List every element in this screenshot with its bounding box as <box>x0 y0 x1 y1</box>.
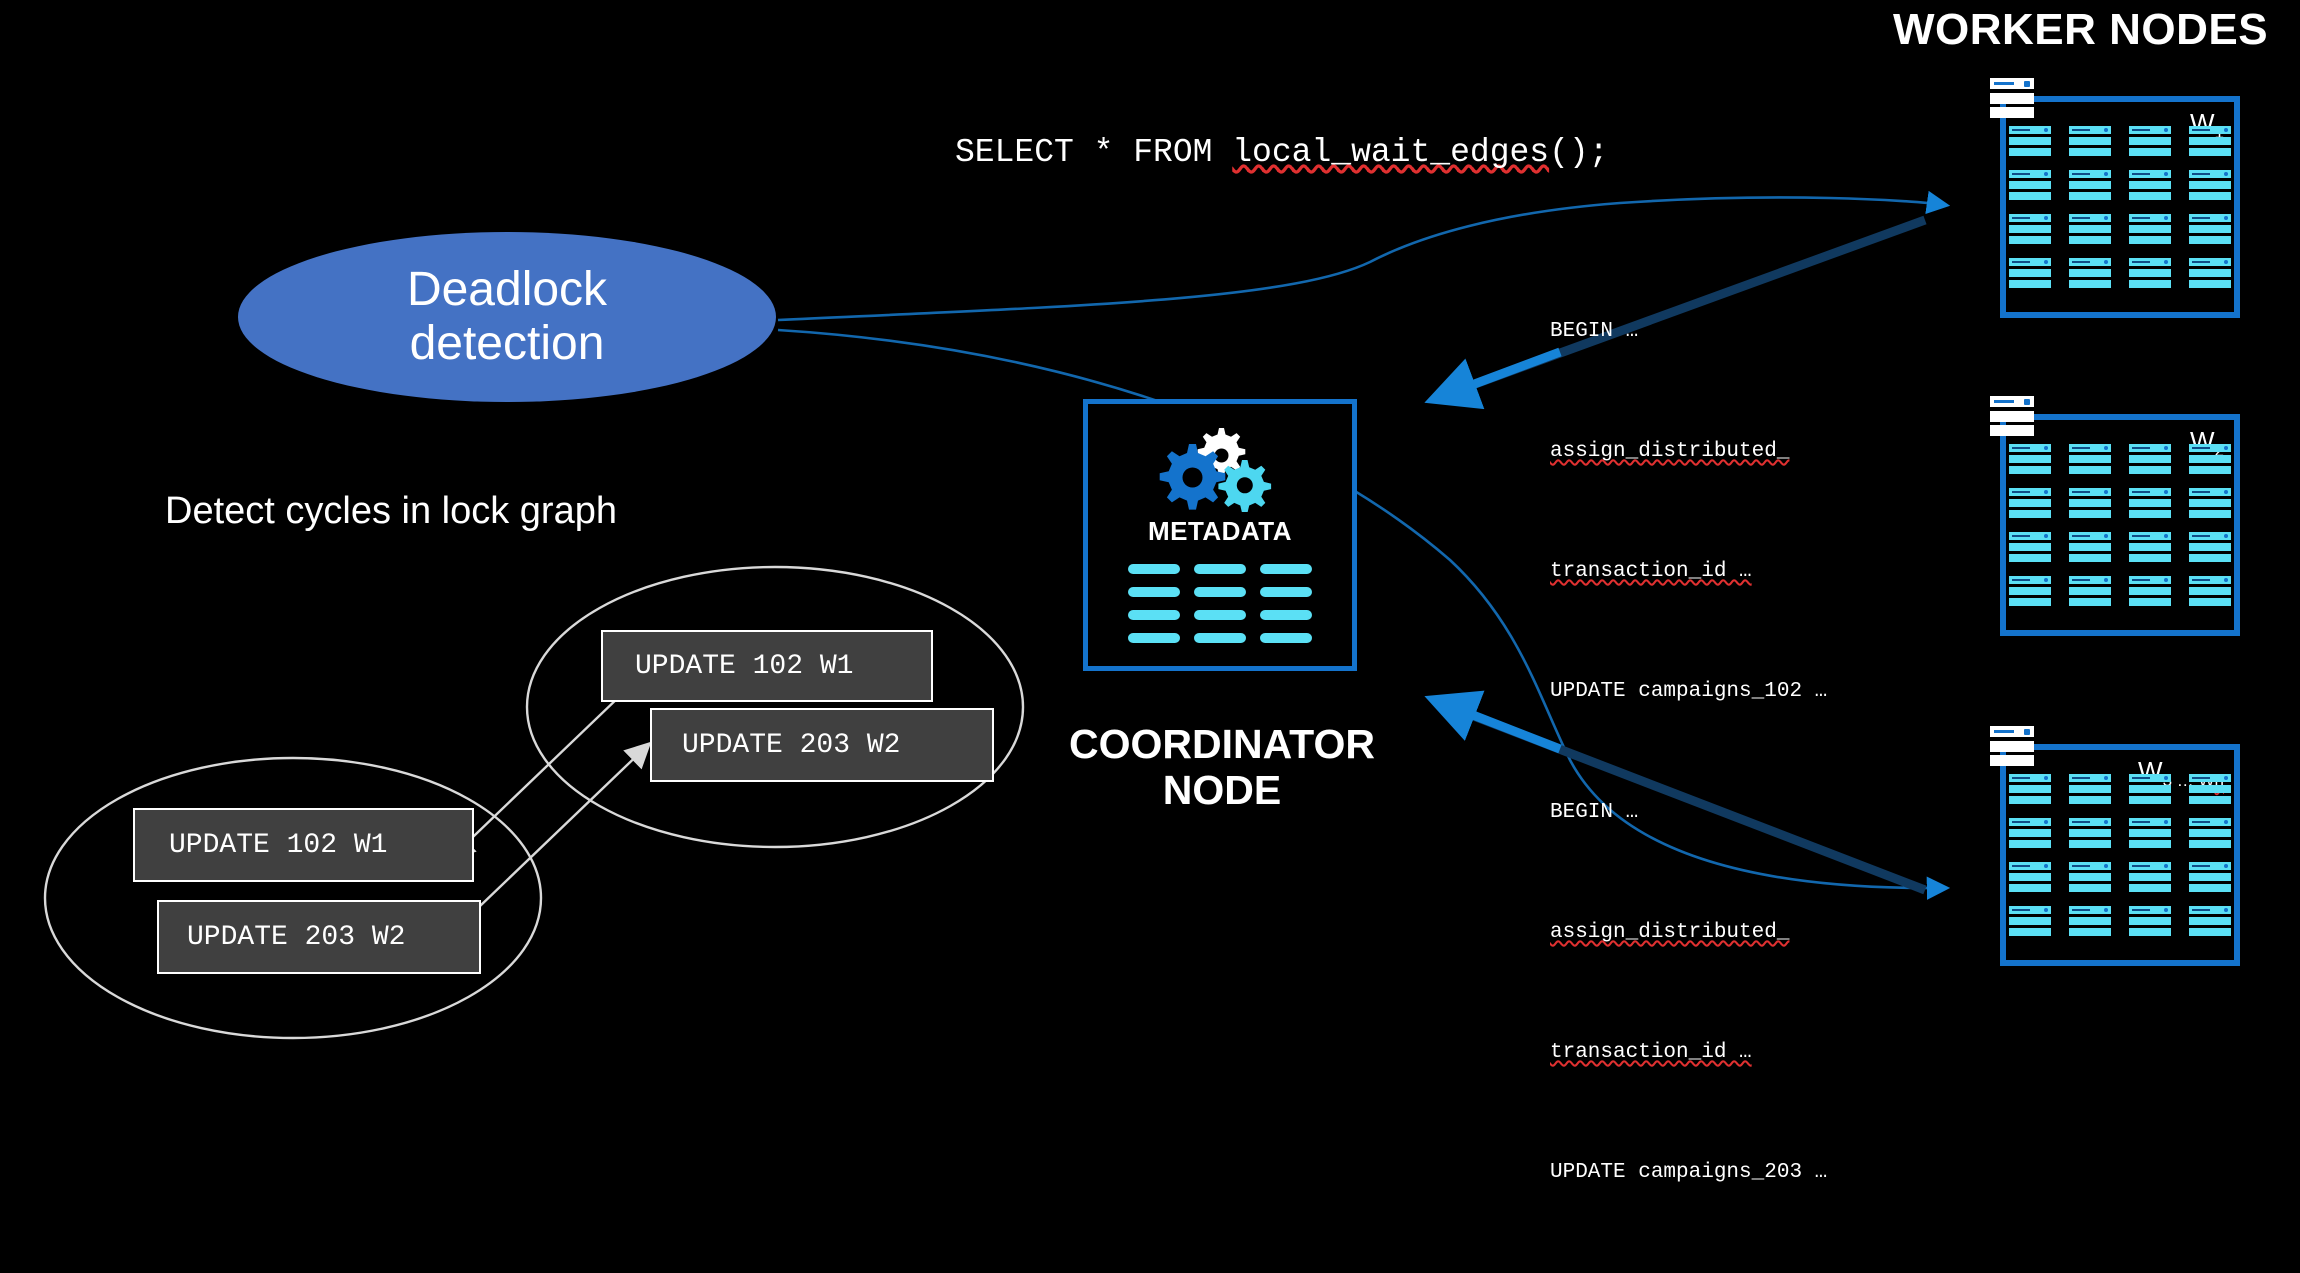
deadlock-detection-label: Deadlock detection <box>407 263 607 371</box>
metadata-bar <box>1260 610 1312 620</box>
sql-function-name: local_wait_edges <box>1232 134 1549 171</box>
coordinator-node-title: COORDINATOR NODE <box>1042 722 1402 814</box>
shard-table-icon <box>2009 862 2051 892</box>
metadata-bar <box>1260 587 1312 597</box>
sql-prefix: SELECT * FROM <box>955 134 1232 171</box>
shard-table-icon <box>2129 444 2171 474</box>
metadata-bars-grid <box>1128 564 1312 643</box>
shard-table-icon <box>2189 444 2231 474</box>
shard-table-icon <box>2009 170 2051 200</box>
shard-table-icon <box>2189 576 2231 606</box>
shard-table-icon <box>2129 862 2171 892</box>
metadata-bar <box>1194 633 1246 643</box>
coordinator-metadata-card[interactable]: METADATA <box>1083 399 1357 671</box>
shard-table-icon <box>2129 576 2171 606</box>
lock-node-box[interactable]: UPDATE 203 W2 <box>157 900 481 974</box>
shard-table-icon <box>2009 488 2051 518</box>
txn-line: UPDATE campaigns_203 … <box>1550 1153 1827 1193</box>
slide-canvas: WORKER NODES COORDINATOR NODE Deadlock d… <box>0 0 2300 1072</box>
shard-table-icon <box>2189 532 2231 562</box>
shard-table-icon <box>2189 214 2231 244</box>
shard-table-icon <box>2129 488 2171 518</box>
shard-table-icon <box>2069 576 2111 606</box>
shard-table-icon <box>2069 906 2111 936</box>
shard-table-grid <box>2009 444 2231 606</box>
shard-table-icon <box>2129 818 2171 848</box>
shard-table-icon <box>2069 488 2111 518</box>
shard-table-icon <box>2189 774 2231 804</box>
shard-table-icon <box>2009 126 2051 156</box>
lock-node-box[interactable]: UPDATE 102 W1 <box>133 808 474 882</box>
shard-table-icon <box>2129 258 2171 288</box>
lock-node-box[interactable]: UPDATE 203 W2 <box>650 708 994 782</box>
shard-table-icon <box>2189 258 2231 288</box>
server-icon <box>1990 78 2034 118</box>
shard-table-icon <box>2009 258 2051 288</box>
lock-cycle-ellipse-left <box>45 758 541 1038</box>
txn-line: BEGIN … <box>1550 312 1827 352</box>
metadata-label: METADATA <box>1088 516 1352 547</box>
transaction-snippet-top: BEGIN … assign_distributed_ transaction_… <box>1550 232 1827 792</box>
sql-suffix: (); <box>1549 134 1608 171</box>
transaction-snippet-bottom: BEGIN … assign_distributed_ transaction_… <box>1550 713 1827 1273</box>
lock-node-box[interactable]: UPDATE 102 W1 <box>601 630 933 702</box>
metadata-bar <box>1194 587 1246 597</box>
shard-table-icon <box>2009 576 2051 606</box>
shard-table-icon <box>2129 532 2171 562</box>
shard-table-icon <box>2189 170 2231 200</box>
lock-edge-d-to-b <box>455 745 648 930</box>
metadata-bar <box>1128 610 1180 620</box>
deadlock-detection-node[interactable]: Deadlock detection <box>238 232 776 402</box>
shard-table-icon <box>2069 170 2111 200</box>
shard-table-icon <box>2129 126 2171 156</box>
txn-line: transaction_id … <box>1550 1033 1827 1073</box>
txn-line: assign_distributed_ <box>1550 913 1827 953</box>
worker-nodes-title: WORKER NODES <box>1893 5 2300 55</box>
metadata-bar <box>1128 564 1180 574</box>
shard-table-icon <box>2129 774 2171 804</box>
metadata-bar <box>1260 564 1312 574</box>
lock-graph-caption: Detect cycles in lock graph <box>165 490 617 533</box>
shard-table-grid <box>2009 126 2231 288</box>
shard-table-icon <box>2069 532 2111 562</box>
shard-table-icon <box>2069 774 2111 804</box>
txn-line: UPDATE campaigns_102 … <box>1550 672 1827 712</box>
worker-node-w2[interactable]: W2 <box>2000 414 2240 636</box>
sql-query-text: SELECT * FROM local_wait_edges(); <box>955 134 1609 171</box>
shard-table-icon <box>2009 818 2051 848</box>
shard-table-icon <box>2009 774 2051 804</box>
shard-table-icon <box>2009 906 2051 936</box>
shard-table-icon <box>2129 214 2171 244</box>
txn-line: assign_distributed_ <box>1550 432 1827 472</box>
shard-table-icon <box>2189 906 2231 936</box>
shard-table-icon <box>2069 862 2111 892</box>
txn-line: BEGIN … <box>1550 793 1827 833</box>
shard-table-icon <box>2069 126 2111 156</box>
metadata-bar <box>1194 564 1246 574</box>
shard-table-icon <box>2009 532 2051 562</box>
shard-table-icon <box>2189 488 2231 518</box>
metadata-bar <box>1260 633 1312 643</box>
metadata-bar <box>1128 633 1180 643</box>
lock-cycle-ellipse-right <box>527 567 1023 847</box>
metadata-bar <box>1194 610 1246 620</box>
txn-line: transaction_id … <box>1550 552 1827 592</box>
worker-node-w1[interactable]: W1 <box>2000 96 2240 318</box>
shard-table-icon <box>2129 906 2171 936</box>
shard-table-icon <box>2069 818 2111 848</box>
shard-table-icon <box>2069 258 2111 288</box>
worker-node-w3-wn[interactable]: W3 … Wn <box>2000 744 2240 966</box>
shard-table-grid <box>2009 774 2231 936</box>
server-icon <box>1990 396 2034 436</box>
shard-table-icon <box>2009 214 2051 244</box>
shard-table-icon <box>2069 444 2111 474</box>
edge-w1-to-coordinator-head <box>1437 352 1560 398</box>
shard-table-icon <box>2129 170 2171 200</box>
shard-table-icon <box>2069 214 2111 244</box>
server-icon <box>1990 726 2034 766</box>
shard-table-icon <box>2189 126 2231 156</box>
gears-icon <box>1145 422 1295 512</box>
metadata-bar <box>1128 587 1180 597</box>
shard-table-icon <box>2189 862 2231 892</box>
edge-w3-to-coordinator-head <box>1437 701 1560 749</box>
shard-table-icon <box>2009 444 2051 474</box>
shard-table-icon <box>2189 818 2231 848</box>
